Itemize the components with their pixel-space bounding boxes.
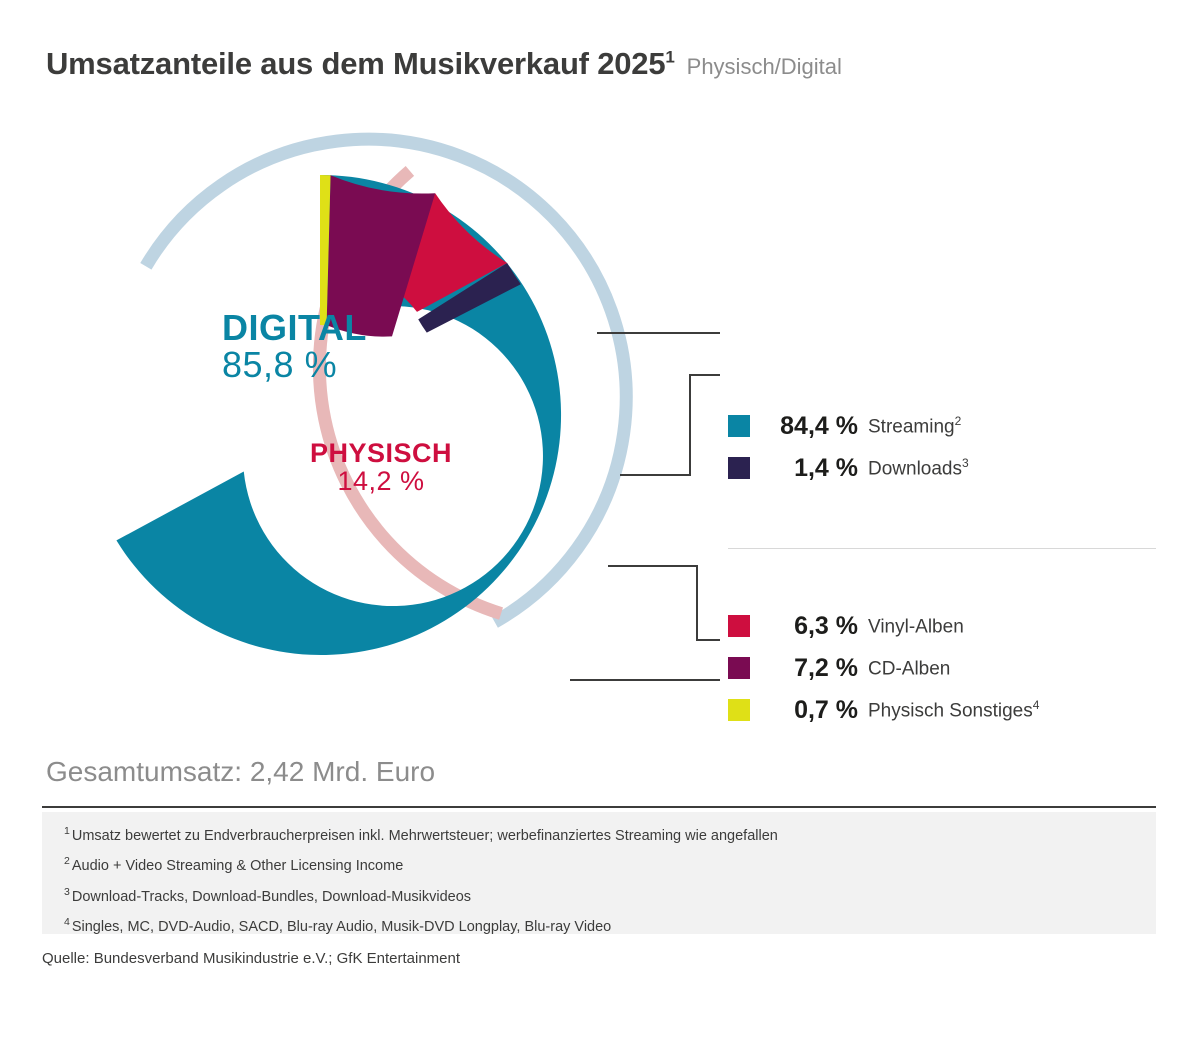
donut-segments	[116, 175, 561, 655]
footnotes-top-rule	[42, 806, 1156, 808]
footnote-2-text: Audio + Video Streaming & Other Licensin…	[72, 858, 403, 874]
footnote-2-marker: 2	[64, 855, 70, 867]
legend-group-physical: 6,3 % Vinyl-Alben 7,2 % CD-Alben 0,7 % P…	[728, 605, 1039, 731]
center-label-digital: DIGITAL 85,8 %	[222, 310, 367, 383]
page-title: Umsatzanteile aus dem Musikverkauf 20251	[46, 46, 675, 82]
legend-swatch-streaming	[728, 415, 750, 437]
page-subtitle: Physisch/Digital	[687, 54, 842, 80]
legend-item-streaming[interactable]: 84,4 % Streaming2	[728, 405, 969, 447]
legend-label-streaming: Streaming2	[868, 414, 961, 438]
legend-value-downloads: 1,4 %	[764, 454, 868, 483]
footnote-1: 1Umsatz bewertet zu Endverbraucherpreise…	[64, 826, 1156, 843]
footnote-1-marker: 1	[64, 825, 70, 837]
legend-item-physisch-sonstiges[interactable]: 0,7 % Physisch Sonstiges4	[728, 689, 1039, 731]
footnote-4: 4Singles, MC, DVD-Audio, SACD, Blu-ray A…	[64, 917, 1156, 934]
footnote-4-marker: 4	[64, 916, 70, 928]
page-title-text: Umsatzanteile aus dem Musikverkauf 2025	[46, 46, 665, 81]
legend-swatch-vinyl	[728, 615, 750, 637]
total-revenue: Gesamtumsatz: 2,42 Mrd. Euro	[46, 756, 435, 788]
legend-label-cd: CD-Alben	[868, 656, 950, 680]
legend-item-vinyl[interactable]: 6,3 % Vinyl-Alben	[728, 605, 1039, 647]
source-line: Quelle: Bundesverband Musikindustrie e.V…	[42, 950, 460, 967]
footnote-1-text: Umsatz bewertet zu Endverbraucherpreisen…	[72, 828, 778, 844]
legend-item-cd[interactable]: 7,2 % CD-Alben	[728, 647, 1039, 689]
legend-label-downloads: Downloads3	[868, 456, 969, 480]
footnote-3: 3Download-Tracks, Download-Bundles, Down…	[64, 887, 1156, 904]
center-physical-value: 14,2 %	[310, 468, 452, 496]
legend-divider	[728, 548, 1156, 549]
legend-value-cd: 7,2 %	[764, 654, 868, 683]
center-label-physical: PHYSISCH 14,2 %	[310, 440, 452, 495]
center-digital-value: 85,8 %	[222, 347, 367, 384]
donut-chart: DIGITAL 85,8 % PHYSISCH 14,2 % 84,4 % St…	[0, 100, 1200, 720]
footnote-4-text: Singles, MC, DVD-Audio, SACD, Blu-ray Au…	[72, 919, 611, 935]
legend-value-vinyl: 6,3 %	[764, 612, 868, 641]
legend-swatch-cd	[728, 657, 750, 679]
legend-swatch-downloads	[728, 457, 750, 479]
legend-label-physisch-sonstiges: Physisch Sonstiges4	[868, 698, 1039, 722]
legend-swatch-physisch-sonstiges	[728, 699, 750, 721]
legend-label-vinyl: Vinyl-Alben	[868, 614, 964, 638]
footnotes-block: 1Umsatz bewertet zu Endverbraucherpreise…	[42, 812, 1156, 934]
center-physical-name: PHYSISCH	[310, 440, 452, 468]
legend-value-physisch-sonstiges: 0,7 %	[764, 696, 868, 725]
page-header: Umsatzanteile aus dem Musikverkauf 20251…	[46, 46, 1156, 82]
legend-group-digital: 84,4 % Streaming2 1,4 % Downloads3	[728, 405, 969, 489]
center-digital-name: DIGITAL	[222, 310, 367, 347]
page-title-footnote-marker: 1	[665, 48, 674, 67]
legend-value-streaming: 84,4 %	[764, 412, 868, 441]
footnote-3-marker: 3	[64, 886, 70, 898]
legend-item-downloads[interactable]: 1,4 % Downloads3	[728, 447, 969, 489]
footnote-2: 2Audio + Video Streaming & Other Licensi…	[64, 856, 1156, 873]
footnote-3-text: Download-Tracks, Download-Bundles, Downl…	[72, 888, 471, 904]
leader-line-downloads	[620, 375, 720, 475]
leader-line-vinyl	[608, 566, 720, 640]
